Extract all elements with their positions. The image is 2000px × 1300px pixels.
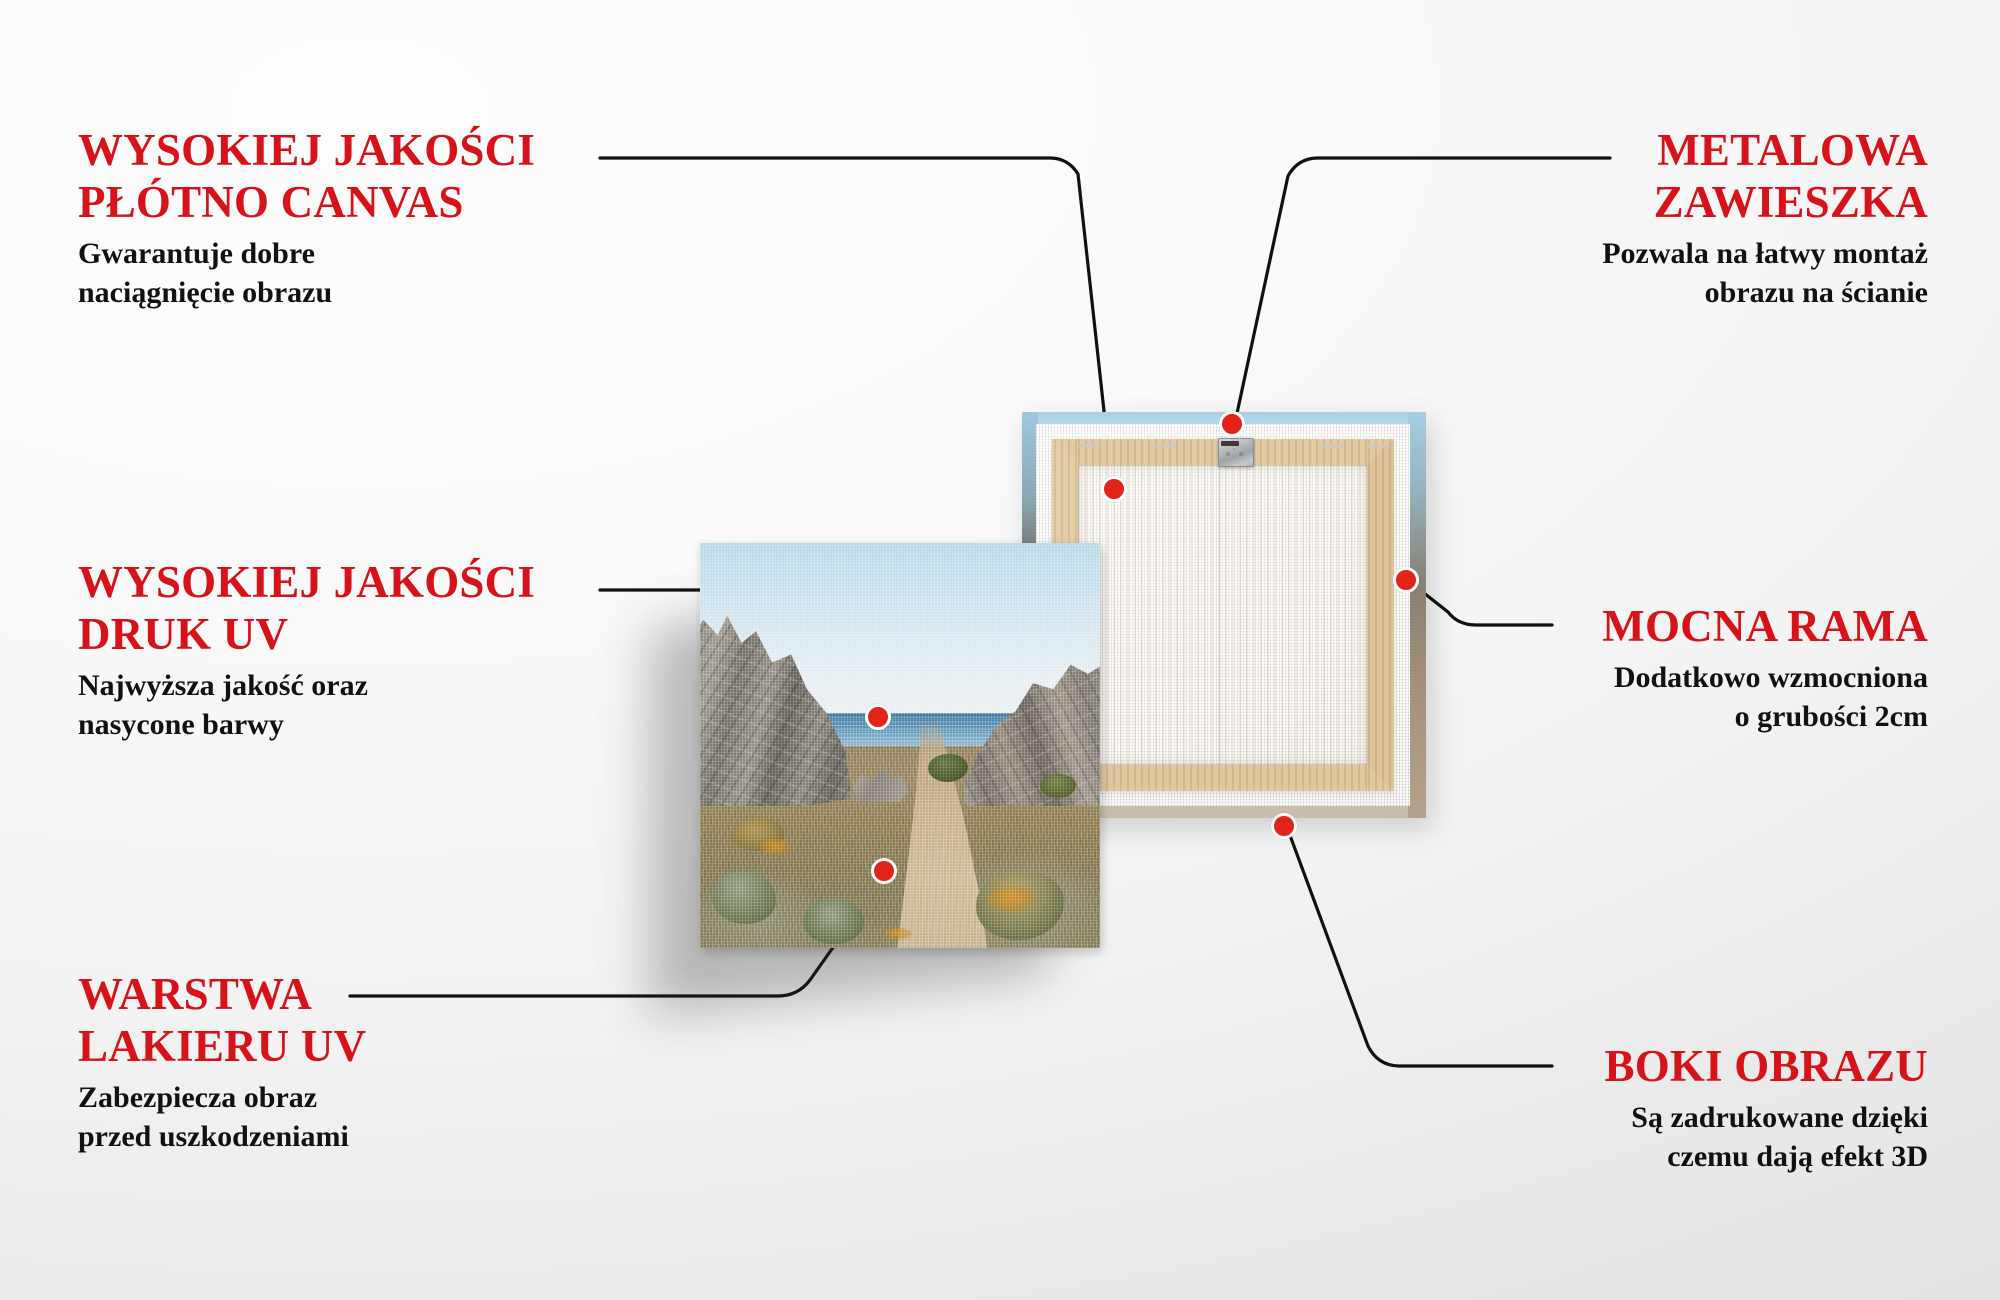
feature-label-druk-uv: WYSOKIEJ JAKOŚCI DRUK UV Najwyższa jakoś… <box>78 556 608 744</box>
hotspot-boki-obrazu[interactable] <box>1271 813 1297 839</box>
hotspot-mocna-rama[interactable] <box>1393 567 1419 593</box>
feature-subtitle: Najwyższa jakość oraz nasycone barwy <box>78 667 608 744</box>
feature-label-mocna-rama: MOCNA RAMA Dodatkowo wzmocniona o gruboś… <box>1388 600 1928 736</box>
front-canvas-image <box>700 543 1100 948</box>
infographic-canvas-features: WYSOKIEJ JAKOŚCI PŁÓTNO CANVAS Gwarantuj… <box>0 0 2000 1300</box>
hotspot-druk-uv[interactable] <box>865 704 891 730</box>
feature-label-metalowa-zawieszka: METALOWA ZAWIESZKA Pozwala na łatwy mont… <box>1388 124 1928 312</box>
frame-inner-shadow <box>1078 465 1368 765</box>
feature-title: WARSTWA LAKIERU UV <box>78 968 608 1072</box>
feature-title: METALOWA ZAWIESZKA <box>1388 124 1928 228</box>
feature-subtitle: Są zadrukowane dzięki czemu dają efekt 3… <box>1388 1099 1928 1176</box>
feature-label-boki-obrazu: BOKI OBRAZU Są zadrukowane dzięki czemu … <box>1388 1040 1928 1176</box>
photo-lichen-patch <box>760 839 792 855</box>
feature-title: MOCNA RAMA <box>1388 600 1928 652</box>
metal-hanger-bracket <box>1218 438 1254 467</box>
canvas-staple <box>1154 444 1176 447</box>
feature-subtitle: Gwarantuje dobre naciągnięcie obrazu <box>78 235 608 312</box>
canvas-staple <box>1078 444 1100 447</box>
feature-title: WYSOKIEJ JAKOŚCI PŁÓTNO CANVAS <box>78 124 608 228</box>
feature-subtitle: Pozwala na łatwy montaż obrazu na ściani… <box>1388 235 1928 312</box>
feature-label-warstwa-lakieru-uv: WARSTWA LAKIERU UV Zabezpiecza obraz prz… <box>78 968 608 1156</box>
connector-boki-obrazu <box>1288 830 1552 1066</box>
feature-subtitle: Zabezpiecza obraz przed uszkodzeniami <box>78 1079 608 1156</box>
photo-lichen-patch <box>988 887 1036 911</box>
photo-shrub <box>804 899 864 944</box>
canvas-staple <box>1322 445 1344 448</box>
hotspot-warstwa-lakieru-uv[interactable] <box>871 858 897 884</box>
hotspot-metalowa-zawieszka[interactable] <box>1219 411 1245 437</box>
photo-shrub <box>712 871 776 924</box>
feature-title: WYSOKIEJ JAKOŚCI DRUK UV <box>78 556 608 660</box>
feature-title: BOKI OBRAZU <box>1388 1040 1928 1092</box>
photo-lichen-patch <box>884 928 912 940</box>
feature-label-plotno-canvas: WYSOKIEJ JAKOŚCI PŁÓTNO CANVAS Gwarantuj… <box>78 124 608 312</box>
hotspot-plotno-canvas[interactable] <box>1101 476 1127 502</box>
feature-subtitle: Dodatkowo wzmocniona o grubości 2cm <box>1388 659 1928 736</box>
printed-photo-artwork <box>700 543 1100 948</box>
canvas-staple <box>1368 445 1390 448</box>
